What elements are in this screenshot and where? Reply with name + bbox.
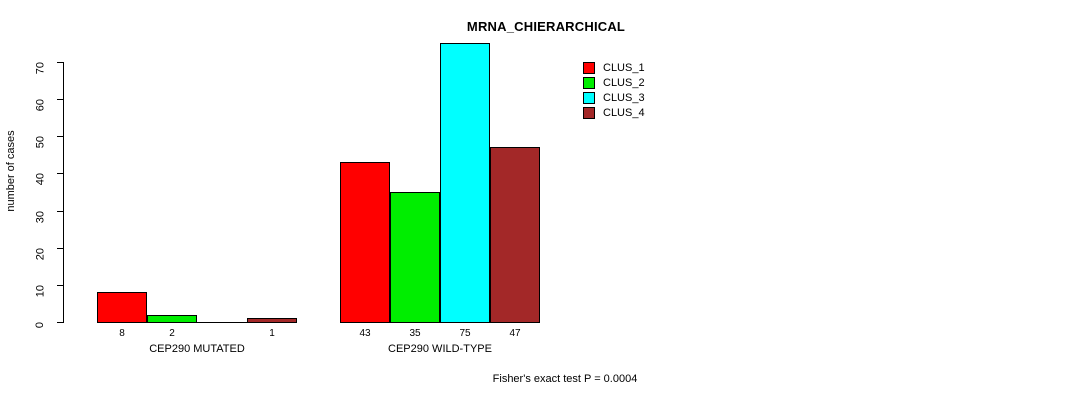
y-axis-tick-label-text: 50 — [34, 136, 46, 148]
y-axis-tick — [57, 173, 63, 174]
bar-value-label: 1 — [247, 328, 297, 339]
chart-canvas: MRNA_CHIERARCHICAL 010203040506070 numbe… — [0, 0, 1090, 400]
bar-value-label: 35 — [390, 328, 440, 339]
group-label: CEP290 WILD-TYPE — [340, 343, 540, 355]
bar-value-label: 8 — [97, 328, 147, 339]
bar-value-label: 47 — [490, 328, 540, 339]
bar — [490, 147, 540, 323]
y-axis-tick — [57, 136, 63, 137]
y-axis-tick — [57, 248, 63, 249]
y-axis-tick-label: 70 — [0, 56, 50, 68]
legend-color-swatch — [583, 77, 595, 89]
bar — [390, 192, 440, 323]
y-axis-tick-label: 0 — [0, 316, 50, 328]
y-axis-tick-label-text: 0 — [34, 322, 46, 328]
group-label: CEP290 MUTATED — [97, 343, 297, 355]
y-axis-tick — [57, 62, 63, 63]
y-axis-tick-label-text: 70 — [34, 62, 46, 74]
y-axis-tick-label: 60 — [0, 93, 50, 105]
y-axis-tick-label-text: 30 — [34, 211, 46, 223]
chart-title: MRNA_CHIERARCHICAL — [0, 19, 1090, 34]
y-axis-tick — [57, 99, 63, 100]
y-axis-tick-label-text: 60 — [34, 99, 46, 111]
group-baseline — [340, 322, 540, 323]
y-axis-tick — [57, 211, 63, 212]
legend-color-swatch — [583, 92, 595, 104]
legend-item-label: CLUS_1 — [603, 62, 645, 74]
statistical-test-text: Fisher's exact test P = 0.0004 — [493, 373, 638, 385]
bar-value-label: 75 — [440, 328, 490, 339]
y-axis-tick — [57, 322, 63, 323]
legend-color-swatch — [583, 107, 595, 119]
y-axis-line — [63, 62, 64, 323]
statistical-test-annotation: Fisher's exact test P = 0.0004 — [0, 373, 1090, 385]
legend-item-label: CLUS_4 — [603, 107, 645, 119]
bar-value-label: 43 — [340, 328, 390, 339]
legend-color-swatch — [583, 62, 595, 74]
bar-value-label: 2 — [147, 328, 197, 339]
bar — [440, 43, 490, 323]
y-axis-tick-label: 10 — [0, 279, 50, 291]
y-axis-tick-label: 20 — [0, 242, 50, 254]
chart-title-text: MRNA_CHIERARCHICAL — [467, 19, 625, 34]
y-axis-tick-label-text: 10 — [34, 285, 46, 297]
group-baseline — [97, 322, 297, 323]
legend-item-label: CLUS_3 — [603, 92, 645, 104]
bar — [97, 292, 147, 323]
y-axis-tick-label-text: 20 — [34, 248, 46, 260]
legend-item-label: CLUS_2 — [603, 77, 645, 89]
y-axis-title: number of cases — [5, 121, 17, 221]
y-axis-tick-label-text: 40 — [34, 173, 46, 185]
bar — [340, 162, 390, 323]
y-axis-tick — [57, 285, 63, 286]
